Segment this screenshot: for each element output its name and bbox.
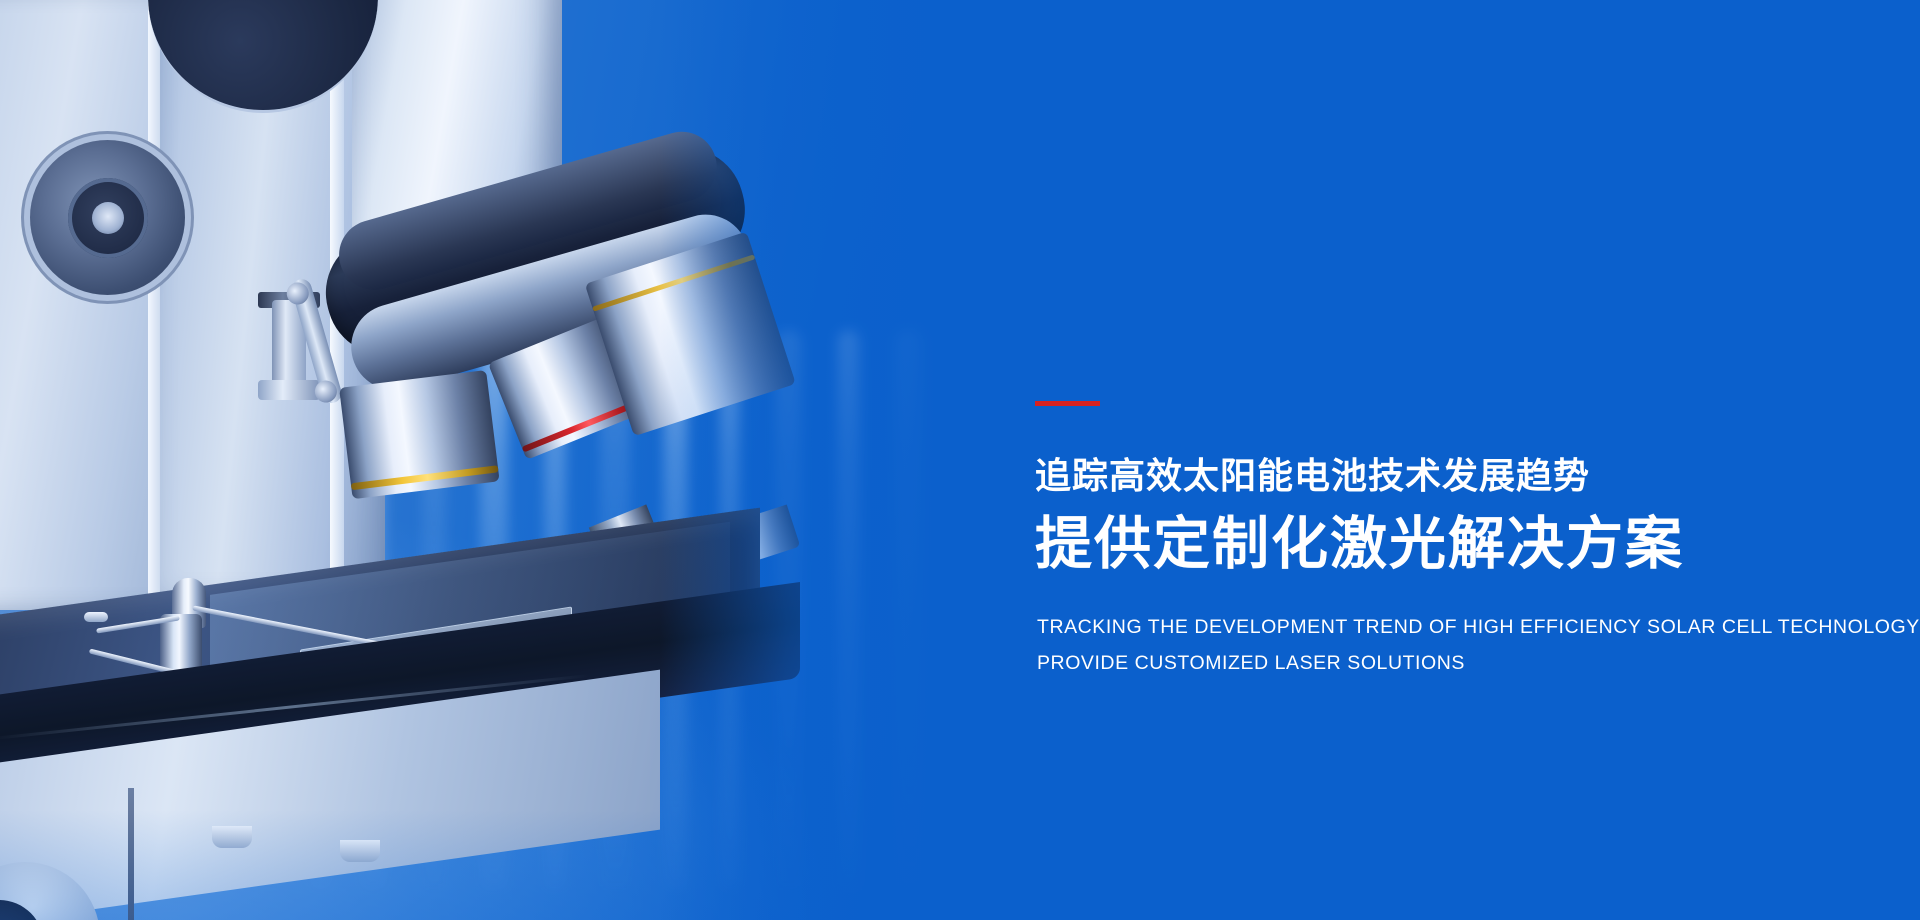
red-accent-rule (1035, 401, 1100, 406)
hero-headline-cn: 提供定制化激光解决方案 (1035, 513, 1684, 576)
hero-subtitle-en-line-2: PROVIDE CUSTOMIZED LASER SOLUTIONS (1037, 652, 1465, 675)
photo-right-fade (660, 0, 960, 920)
hero-content: 追踪高效太阳能电池技术发展趋势 提供定制化激光解决方案 TRACKING THE… (1035, 0, 1835, 920)
focus-knob-screw-icon (92, 202, 124, 234)
adjust-screw-foot (258, 380, 320, 400)
focus-knob (30, 140, 185, 295)
microscope-rail-left (148, 0, 160, 600)
hero-subtitle-en-line-1: TRACKING THE DEVELOPMENT TREND OF HIGH E… (1037, 616, 1920, 639)
hero-subheadline-cn: 追踪高效太阳能电池技术发展趋势 (1035, 456, 1590, 496)
microscope-photo (0, 0, 960, 920)
hero-banner: 追踪高效太阳能电池技术发展趋势 提供定制化激光解决方案 TRACKING THE… (0, 0, 1920, 920)
focus-knob-inner (68, 178, 148, 258)
slide-clip-nub (84, 612, 108, 622)
